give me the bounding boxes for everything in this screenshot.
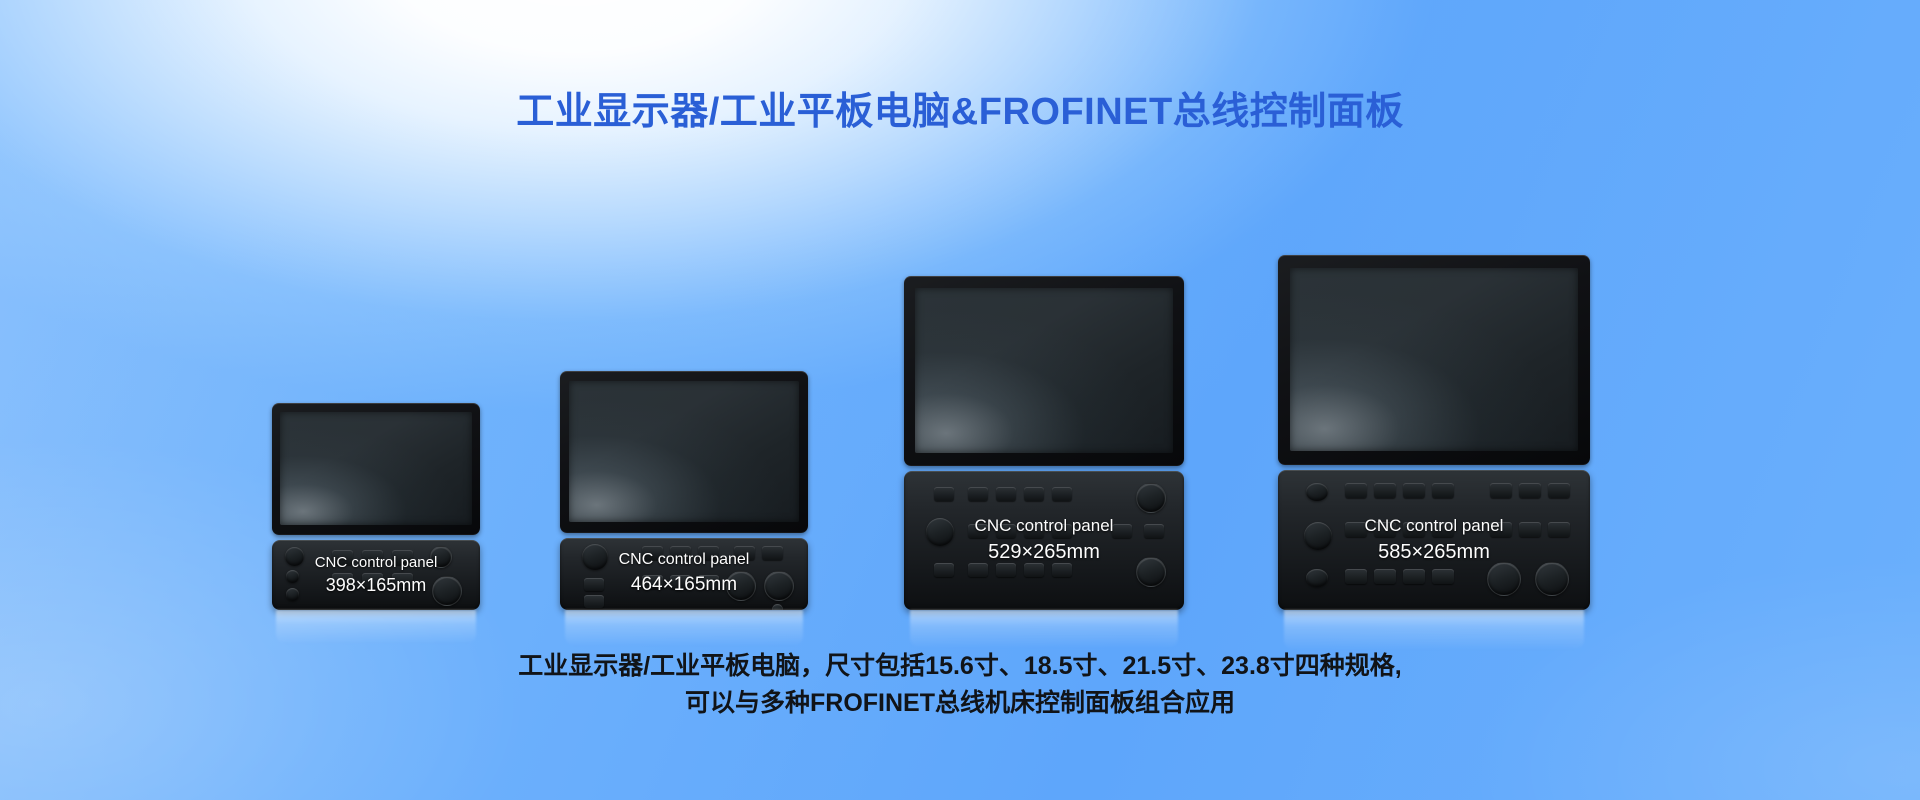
panel-key[interactable] bbox=[1024, 563, 1044, 577]
monitor-2 bbox=[560, 371, 808, 533]
panel-key[interactable] bbox=[642, 546, 663, 560]
monitor-screen-4 bbox=[1290, 268, 1578, 451]
panel-key[interactable] bbox=[968, 563, 988, 577]
panel-key[interactable] bbox=[332, 550, 353, 565]
page-title: 工业显示器/工业平板电脑&FROFINET总线控制面板 bbox=[0, 80, 1920, 135]
panel-key[interactable] bbox=[1432, 483, 1454, 498]
panel-key[interactable] bbox=[698, 546, 719, 560]
device-card-1[interactable]: CNC control panel 398×165mm bbox=[272, 403, 480, 610]
panel-key[interactable] bbox=[332, 573, 353, 588]
knob-icon[interactable] bbox=[1304, 522, 1332, 550]
knob-icon[interactable] bbox=[1136, 557, 1166, 587]
panel-key[interactable] bbox=[1490, 522, 1512, 537]
knob-icon[interactable] bbox=[764, 571, 794, 601]
panel-key[interactable] bbox=[1548, 522, 1570, 537]
panel-key[interactable] bbox=[670, 575, 691, 589]
panel-key[interactable] bbox=[996, 563, 1016, 577]
panel-size-4: 585×265mm bbox=[1378, 538, 1490, 566]
device-card-2[interactable]: CNC control panel 464×165mm bbox=[560, 371, 808, 610]
caption-line-2: 可以与多种FROFINET总线机床控制面板组合应用 bbox=[0, 685, 1920, 722]
monitor-screen-2 bbox=[569, 381, 799, 522]
panel-key[interactable] bbox=[1144, 524, 1164, 538]
panel-key[interactable] bbox=[762, 546, 783, 560]
knob-icon[interactable] bbox=[1136, 483, 1166, 513]
panel-key[interactable] bbox=[1403, 522, 1425, 537]
panel-key[interactable] bbox=[1548, 483, 1570, 498]
panel-key[interactable] bbox=[584, 578, 604, 591]
panel-key[interactable] bbox=[1024, 524, 1044, 538]
panel-key[interactable] bbox=[1432, 569, 1454, 584]
panel-key[interactable] bbox=[1403, 483, 1425, 498]
knob-icon[interactable] bbox=[1535, 562, 1569, 596]
knob-icon[interactable] bbox=[726, 571, 756, 601]
knob-icon[interactable] bbox=[285, 547, 304, 566]
panel-key[interactable] bbox=[362, 550, 383, 565]
panel-key[interactable] bbox=[1345, 483, 1367, 498]
panel-key[interactable] bbox=[1403, 569, 1425, 584]
panel-key[interactable] bbox=[392, 573, 413, 588]
panel-key[interactable] bbox=[362, 573, 383, 588]
knob-icon[interactable] bbox=[772, 604, 783, 610]
caption-block: 工业显示器/工业平板电脑，尺寸包括15.6寸、18.5寸、21.5寸、23.8寸… bbox=[0, 648, 1920, 721]
monitor-screen-3 bbox=[915, 288, 1173, 453]
monitor-1 bbox=[272, 403, 480, 535]
product-showcase: CNC control panel 398×165mm CN bbox=[0, 190, 1920, 610]
panel-key[interactable] bbox=[1432, 522, 1454, 537]
knob-icon[interactable] bbox=[1487, 562, 1521, 596]
device-card-3[interactable]: CNC control panel 529×265mm bbox=[904, 276, 1184, 610]
control-panel-1[interactable]: CNC control panel 398×165mm bbox=[272, 540, 480, 610]
panel-key[interactable] bbox=[1374, 483, 1396, 498]
knob-icon[interactable] bbox=[926, 518, 954, 546]
panel-key[interactable] bbox=[1374, 569, 1396, 584]
device-card-4[interactable]: CNC control panel 585×265mm bbox=[1278, 255, 1590, 610]
panel-key[interactable] bbox=[584, 595, 604, 608]
panel-key[interactable] bbox=[996, 487, 1016, 501]
panel-key[interactable] bbox=[1490, 483, 1512, 498]
panel-key[interactable] bbox=[968, 524, 988, 538]
panel-key[interactable] bbox=[734, 546, 755, 560]
control-panel-3[interactable]: CNC control panel 529×265mm bbox=[904, 471, 1184, 610]
knob-icon[interactable] bbox=[432, 576, 462, 606]
panel-key[interactable] bbox=[392, 550, 413, 565]
knob-icon[interactable] bbox=[1306, 569, 1328, 587]
panel-key[interactable] bbox=[670, 546, 691, 560]
panel-key[interactable] bbox=[1052, 524, 1072, 538]
panel-key[interactable] bbox=[934, 487, 954, 501]
monitor-3 bbox=[904, 276, 1184, 466]
panel-key[interactable] bbox=[1374, 522, 1396, 537]
panel-key[interactable] bbox=[996, 524, 1016, 538]
monitor-screen-1 bbox=[280, 412, 472, 525]
panel-key[interactable] bbox=[1052, 563, 1072, 577]
panel-key[interactable] bbox=[698, 575, 719, 589]
control-panel-4[interactable]: CNC control panel 585×265mm bbox=[1278, 470, 1590, 610]
knob-icon[interactable] bbox=[582, 544, 608, 570]
knob-icon[interactable] bbox=[1306, 483, 1328, 501]
panel-key[interactable] bbox=[642, 575, 663, 589]
panel-key[interactable] bbox=[1024, 487, 1044, 501]
panel-key[interactable] bbox=[1345, 522, 1367, 537]
panel-key[interactable] bbox=[1519, 522, 1541, 537]
panel-key[interactable] bbox=[1052, 487, 1072, 501]
knob-icon[interactable] bbox=[286, 588, 299, 601]
knob-icon[interactable] bbox=[286, 570, 299, 583]
panel-key[interactable] bbox=[1112, 524, 1132, 538]
panel-key[interactable] bbox=[934, 563, 954, 577]
panel-key[interactable] bbox=[1519, 483, 1541, 498]
control-panel-2[interactable]: CNC control panel 464×165mm bbox=[560, 538, 808, 610]
knob-icon[interactable] bbox=[430, 546, 452, 568]
panel-key[interactable] bbox=[1345, 569, 1367, 584]
monitor-4 bbox=[1278, 255, 1590, 465]
caption-line-1: 工业显示器/工业平板电脑，尺寸包括15.6寸、18.5寸、21.5寸、23.8寸… bbox=[0, 648, 1920, 685]
panel-key[interactable] bbox=[968, 487, 988, 501]
